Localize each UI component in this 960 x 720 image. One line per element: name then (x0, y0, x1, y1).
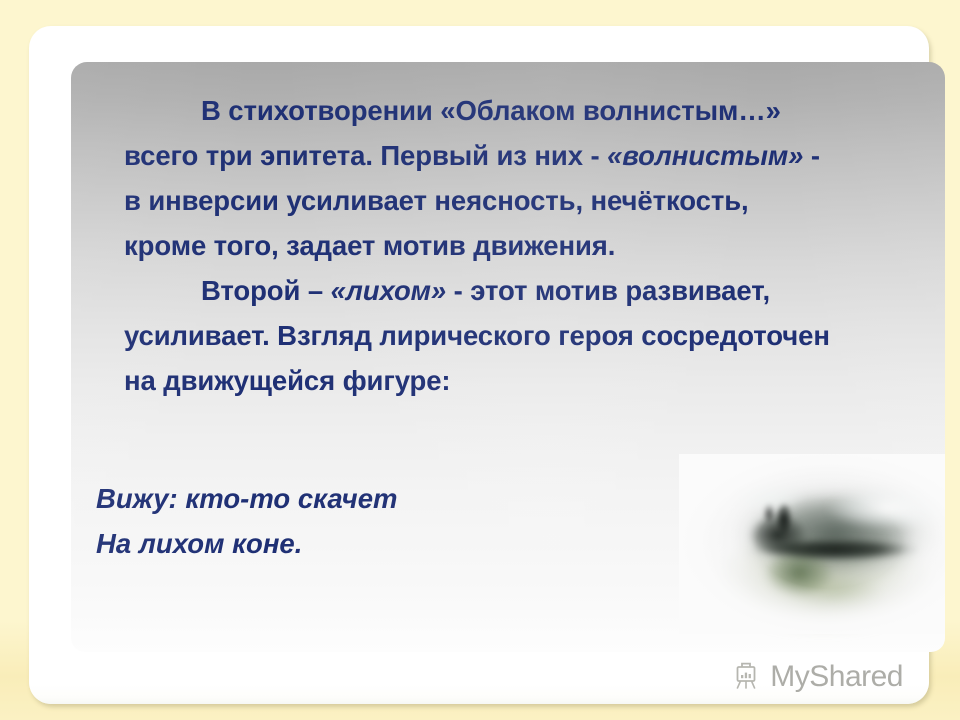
paragraph-2: Второй – «лихом» - этот мотив развивает,… (124, 268, 924, 403)
myshared-logo-text: MyShared (770, 662, 903, 692)
quote-line-1: Вижу: кто-то скачет (96, 476, 397, 521)
presentation-easel-chart-icon (730, 660, 764, 694)
slide-frame: В стихотворении «Облаком волнистым…» все… (29, 26, 929, 704)
slide-page: В стихотворении «Облаком волнистым…» все… (0, 0, 960, 720)
slide-body-text: В стихотворении «Облаком волнистым…» все… (124, 88, 924, 403)
poem-quote: Вижу: кто-то скачет На лихом коне. (96, 476, 397, 566)
slide-footer: MyShared (29, 652, 929, 704)
quote-line-2: На лихом коне. (96, 521, 397, 566)
slide-canvas: В стихотворении «Облаком волнистым…» все… (71, 62, 945, 652)
body-line-6: усиливает. Взгляд лирического героя соср… (124, 313, 924, 358)
body-line-3: в инверсии усиливает неясность, нечёткос… (124, 178, 924, 223)
photo-cloud-layer (679, 454, 945, 634)
photo-foliage-layer (679, 454, 945, 634)
horseman-photo (679, 454, 945, 634)
body-line-2-part-3: - (803, 140, 820, 171)
photo-feather-mask (679, 454, 945, 634)
body-line-2-emphasis: «волнистым» (607, 140, 803, 171)
body-line-7: на движущейся фигуре: (124, 358, 924, 403)
photo-horse-layer (679, 454, 945, 634)
body-line-5-emphasis: «лихом» (331, 275, 447, 306)
body-line-2: всего три эпитета. Первый из них - «волн… (124, 133, 924, 178)
body-line-5-part-1: Второй – (201, 275, 331, 306)
photo-rider-layer (679, 454, 945, 634)
body-line-2-part-1: всего три эпитета. Первый из них - (124, 140, 607, 171)
photo-haze-layer (679, 454, 945, 634)
body-line-5: Второй – «лихом» - этот мотив развивает, (124, 268, 924, 313)
body-line-5-part-3: - этот мотив развивает, (446, 275, 770, 306)
paragraph-1: В стихотворении «Облаком волнистым…» все… (124, 88, 924, 268)
body-line-1: В стихотворении «Облаком волнистым…» (124, 88, 924, 133)
body-line-4: кроме того, задает мотив движения. (124, 223, 924, 268)
myshared-logo[interactable]: MyShared (730, 660, 903, 694)
